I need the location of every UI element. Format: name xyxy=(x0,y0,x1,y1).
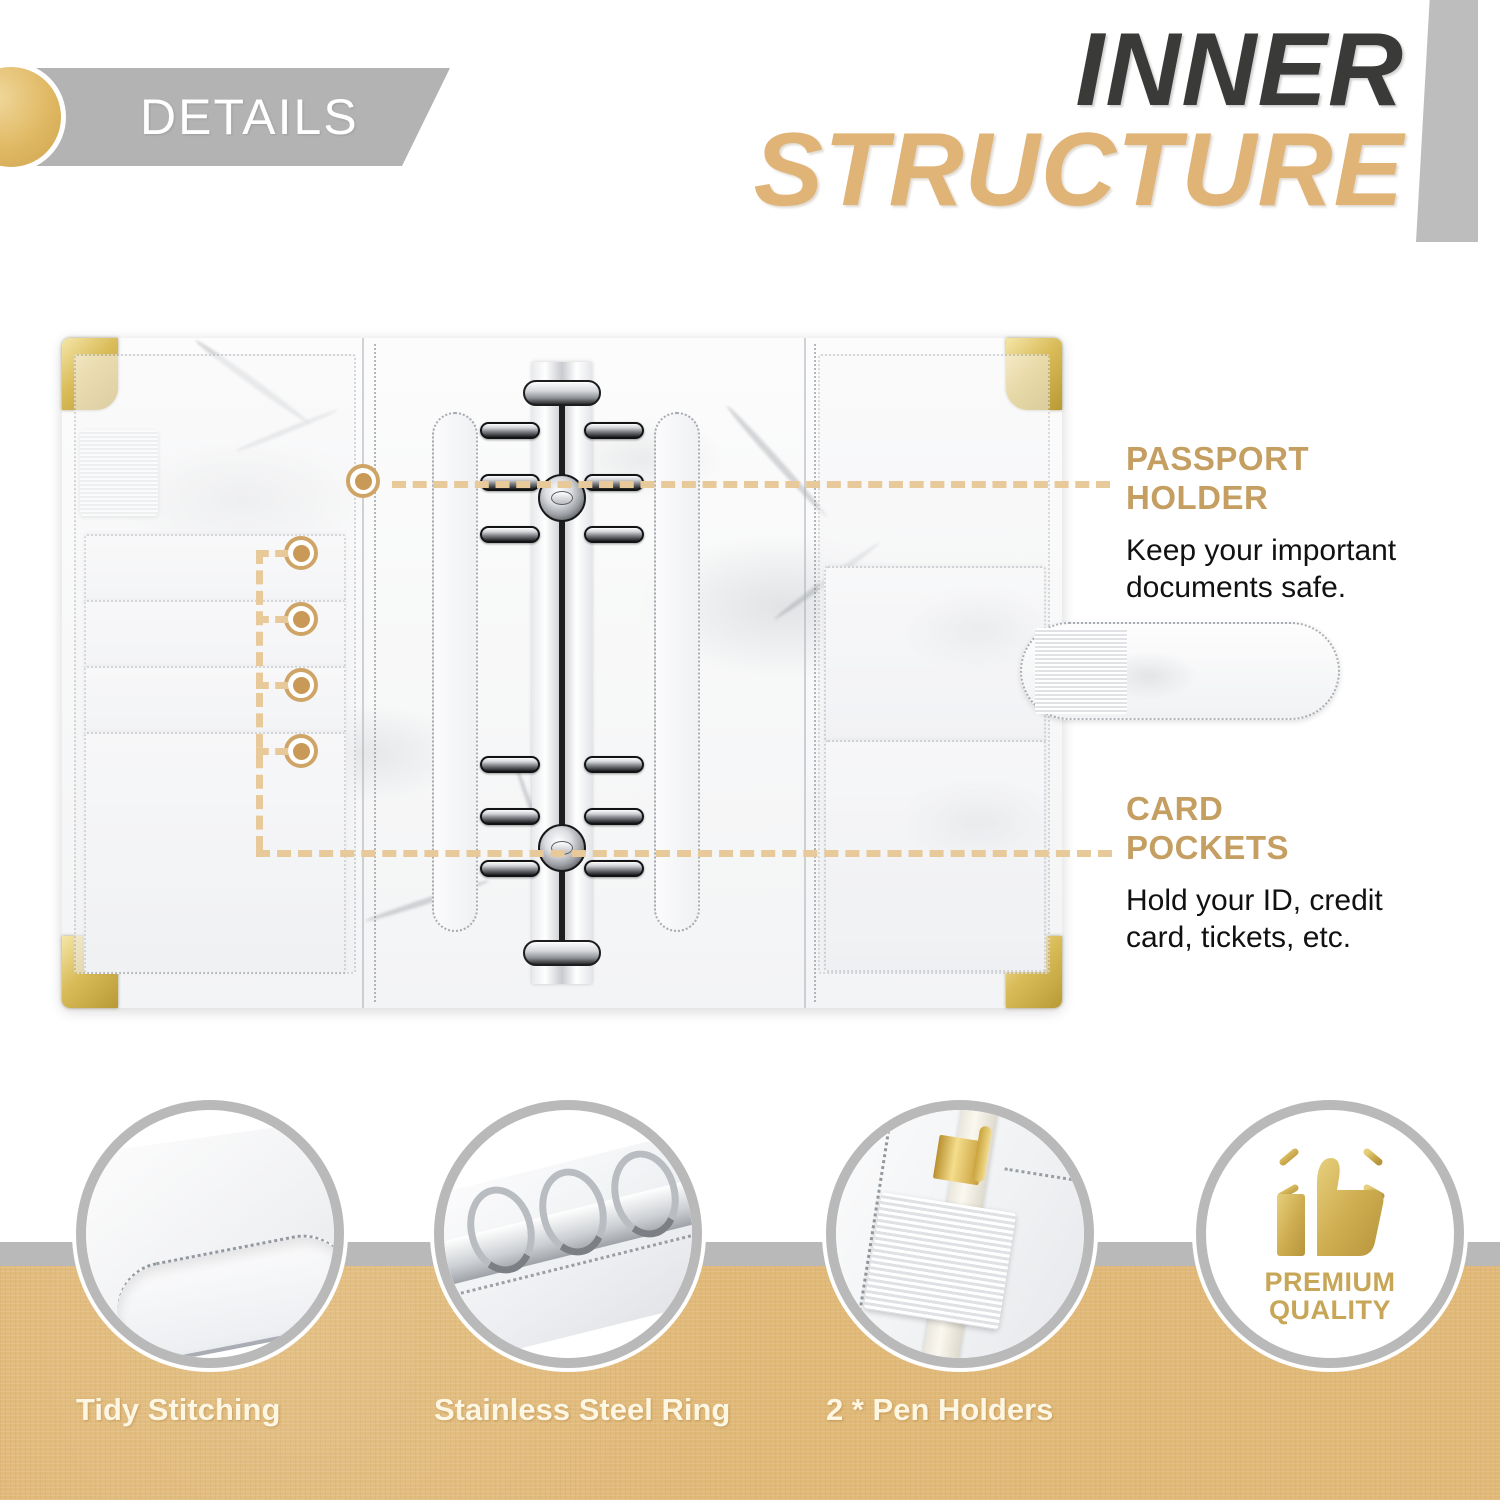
binder-ring xyxy=(480,860,540,877)
callout-title-line2: POCKETS xyxy=(1126,829,1486,868)
panel-stitch-seam xyxy=(814,344,816,1002)
callout-marker-card-pocket xyxy=(284,668,318,702)
binder-ring xyxy=(480,526,540,543)
callout-leader-line-card-pockets xyxy=(256,850,1112,857)
callout-title: CARD POCKETS xyxy=(1126,790,1486,868)
callout-title-line2: HOLDER xyxy=(1126,479,1486,518)
binder-release-clasp[interactable] xyxy=(538,824,586,872)
callout-description: Hold your ID, credit card, tickets, etc. xyxy=(1126,882,1486,957)
callout-marker-passport-holder xyxy=(346,464,380,498)
feature-label: 2 * Pen Holders xyxy=(826,1392,1053,1428)
badge-text-line1: PREMIUM xyxy=(1265,1268,1396,1296)
binder-ring xyxy=(480,422,540,439)
callout-passport-holder: PASSPORT HOLDER Keep your important docu… xyxy=(1126,440,1486,607)
binder-ring xyxy=(584,808,644,825)
page-title-line2: STRUCTURE xyxy=(754,116,1404,225)
details-badge-label: DETAILS xyxy=(140,88,359,146)
page-title-line1: INNER xyxy=(754,18,1404,122)
planner-cover-open xyxy=(62,338,1062,1008)
callout-bracket-stub xyxy=(256,682,288,689)
planner-product-photo xyxy=(62,338,1062,1008)
right-panel-liner xyxy=(818,354,1050,974)
callout-desc-line1: Hold your ID, credit xyxy=(1126,882,1486,920)
header-banner: DETAILS INNER STRUCTURE xyxy=(0,0,1500,300)
binder-rings-photo xyxy=(444,1110,692,1358)
feature-photo-circle xyxy=(76,1100,344,1368)
callout-desc-line2: card, tickets, etc. xyxy=(1126,919,1486,957)
clasp-center xyxy=(551,491,573,505)
elastic-band xyxy=(864,1192,1017,1330)
callout-bracket-card-pockets xyxy=(256,550,263,850)
callout-card-pockets: CARD POCKETS Hold your ID, credit card, … xyxy=(1126,790,1486,957)
callout-marker-card-pocket xyxy=(284,536,318,570)
elastic-pen-loop-photo xyxy=(836,1110,1084,1358)
binder-ring xyxy=(480,808,540,825)
binder-spine-cap xyxy=(523,940,601,966)
callout-description: Keep your important documents safe. xyxy=(1126,532,1486,607)
binder-ring xyxy=(584,422,644,439)
callout-marker-card-pocket xyxy=(284,602,318,636)
binder-ring xyxy=(584,756,644,773)
feature-strip: Tidy Stitching Stainless Steel Ring xyxy=(0,1100,1500,1500)
panel-fold-edge xyxy=(804,338,806,1008)
badge-text: PREMIUM QUALITY xyxy=(1265,1268,1396,1325)
callout-desc-line2: documents safe. xyxy=(1126,569,1486,607)
callout-desc-line1: Keep your important xyxy=(1126,532,1486,570)
callout-title-line1: PASSPORT xyxy=(1126,440,1486,479)
callout-leader-line-passport xyxy=(392,481,1110,488)
stitched-cover-edge-photo xyxy=(86,1110,334,1358)
callout-marker-card-pocket xyxy=(284,734,318,768)
thumbs-up-icon xyxy=(1255,1144,1405,1264)
binder-spine-cap xyxy=(523,380,601,406)
premium-quality-badge: PREMIUM QUALITY xyxy=(1196,1100,1464,1368)
badge-text-line2: QUALITY xyxy=(1265,1296,1396,1324)
binder-ring xyxy=(584,860,644,877)
pen-strap-elastic-band xyxy=(1035,628,1127,714)
binder-ring xyxy=(584,526,644,543)
ring-binder-mechanism xyxy=(532,362,592,984)
badge-content: PREMIUM QUALITY xyxy=(1206,1110,1454,1358)
callout-title: PASSPORT HOLDER xyxy=(1126,440,1486,518)
feature-label: Tidy Stitching xyxy=(76,1392,280,1428)
feature-photo-circle xyxy=(826,1100,1094,1368)
feature-label: Stainless Steel Ring xyxy=(434,1392,730,1428)
page-title: INNER STRUCTURE xyxy=(754,18,1404,225)
feature-photo-circle xyxy=(434,1100,702,1368)
header-accent-bar xyxy=(1416,0,1478,242)
panel-fold-edge xyxy=(362,338,364,1008)
callout-bracket-stub xyxy=(256,748,288,755)
callout-bracket-stub xyxy=(256,616,288,623)
callout-bracket-stub xyxy=(256,550,288,557)
left-panel-liner xyxy=(74,354,356,974)
binder-ring xyxy=(480,756,540,773)
callout-title-line1: CARD xyxy=(1126,790,1486,829)
panel-stitch-seam xyxy=(374,344,376,1002)
details-badge: DETAILS xyxy=(0,68,450,166)
